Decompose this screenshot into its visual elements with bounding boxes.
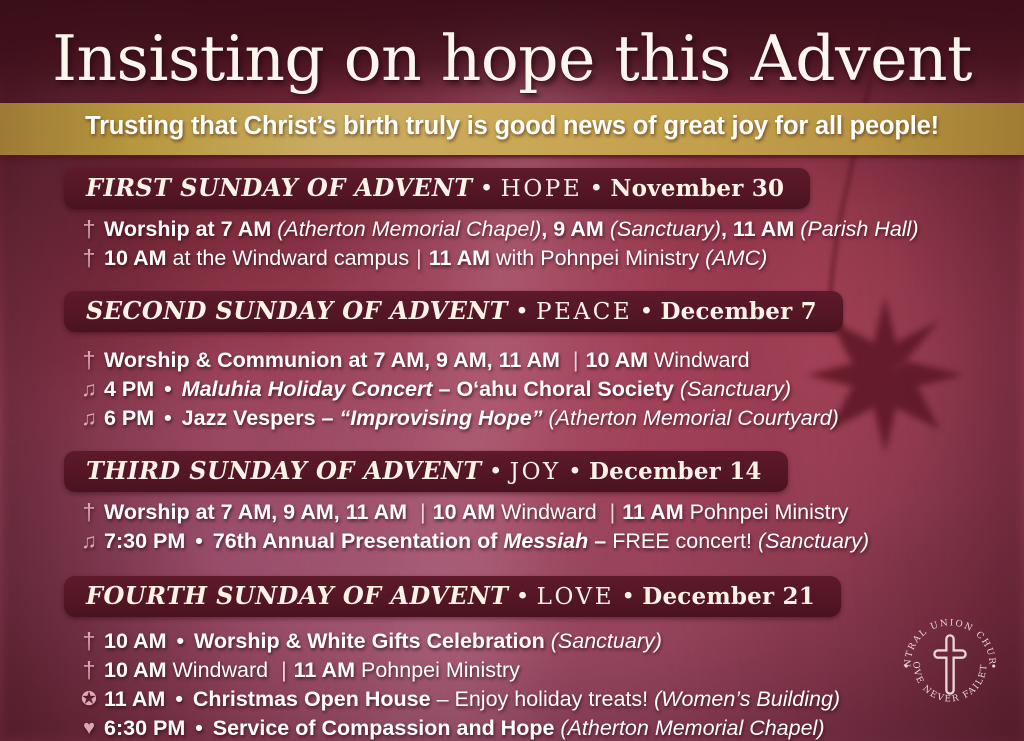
cross-icon: † (78, 215, 100, 244)
event-text-part: 11 AM (429, 246, 496, 270)
header-separator: • (561, 460, 589, 482)
event-text-part: Worship at 7 AM, 9 AM, 11 AM (104, 500, 413, 524)
week-name: FIRST SUNDAY OF ADVENT (86, 173, 473, 202)
event-text-part: with Pohnpei Ministry (496, 246, 705, 270)
week-event-lines: †10 AM • Worship & White Gifts Celebrati… (0, 627, 1024, 741)
event-text-part: 6 PM (104, 406, 160, 430)
event-text-part: “Improvising Hope” (339, 406, 548, 430)
event-text-part: Worship at 7 AM (104, 217, 277, 241)
page-title: Insisting on hope this Advent (0, 27, 1024, 90)
event-text-part: Pohnpei Ministry (361, 658, 520, 682)
week-header-pill: SECOND SUNDAY OF ADVENT•PEACE•December 7 (64, 291, 843, 332)
event-text-part: – Enjoy holiday treats! (437, 687, 655, 711)
week-date: December 14 (589, 458, 762, 485)
event-text-part: 10 AM (585, 348, 654, 372)
advent-week-block: FIRST SUNDAY OF ADVENT•HOPE•November 30†… (0, 168, 1024, 273)
event-line: ♫4 PM • Maluhia Holiday Concert – Oʻahu … (104, 375, 1024, 404)
event-line: †Worship & Communion at 7 AM, 9 AM, 11 A… (104, 346, 1024, 375)
advent-schedule-poster: Insisting on hope this Advent Trusting t… (0, 0, 1024, 741)
music-note-icon: ♫ (78, 527, 100, 556)
event-text-part: , (541, 217, 553, 241)
event-text-part: Jazz Vespers – (176, 406, 340, 430)
event-text-part: 9 AM (553, 217, 610, 241)
event-text-part: (Sanctuary) (551, 629, 662, 653)
week-name: SECOND SUNDAY OF ADVENT (86, 296, 508, 325)
week-theme: HOPE (501, 176, 583, 202)
event-text-part: (Sanctuary) (758, 529, 869, 553)
event-text-part: (Sanctuary) (610, 217, 721, 241)
event-text-part: | (413, 500, 433, 524)
header-separator: • (482, 460, 510, 482)
event-text-part: (Atherton Memorial Chapel) (560, 716, 824, 740)
event-text-part: (AMC) (705, 246, 767, 270)
event-text-part: (Women’s Building) (654, 687, 840, 711)
week-date: December 21 (642, 583, 815, 610)
event-text-part: – (594, 529, 612, 553)
cross-icon: † (78, 656, 100, 685)
event-text-part: Worship & Communion at 7 AM, 9 AM, 11 AM (104, 348, 566, 372)
cross-icon (934, 635, 965, 693)
music-note-icon: ♫ (78, 404, 100, 433)
event-text-part: • (171, 687, 187, 711)
event-text-part: Service of Compassion and Hope (207, 716, 561, 740)
event-text-part: (Parish Hall) (800, 217, 918, 241)
event-text-part: 10 AM (104, 246, 173, 270)
cross-icon: † (78, 627, 100, 656)
week-theme: LOVE (537, 584, 615, 610)
event-text-part: 11 AM (104, 687, 171, 711)
event-text-part: Windward (173, 658, 275, 682)
star-circle-icon: ✪ (78, 685, 100, 714)
poster-header: Insisting on hope this Advent Trusting t… (0, 0, 1024, 162)
header-separator: • (614, 585, 642, 607)
cross-icon: † (78, 498, 100, 527)
week-name: FOURTH SUNDAY OF ADVENT (86, 581, 508, 610)
event-text-part: Messiah (503, 529, 594, 553)
event-text-part: Christmas Open House (187, 687, 437, 711)
event-text-part: 6:30 PM (104, 716, 191, 740)
event-text-part: • (191, 529, 207, 553)
heart-icon: ♥ (78, 714, 100, 741)
week-header-pill: FOURTH SUNDAY OF ADVENT•LOVE•December 21 (64, 576, 841, 617)
event-text-part: | (274, 658, 294, 682)
advent-schedule-list: FIRST SUNDAY OF ADVENT•HOPE•November 30†… (0, 168, 1024, 741)
event-text-part: 10 AM (104, 629, 173, 653)
event-text-part: Worship & White Gifts Celebration (188, 629, 551, 653)
event-text-part: (Atherton Memorial Chapel) (277, 217, 541, 241)
event-text-part: • (173, 629, 189, 653)
event-text-part: 10 AM (433, 500, 502, 524)
event-line: †10 AM • Worship & White Gifts Celebrati… (104, 627, 1024, 656)
event-text-part: • (160, 406, 176, 430)
event-text-part: 11 AM (733, 217, 800, 241)
event-text-part: | (603, 500, 623, 524)
header-separator: • (508, 300, 536, 322)
week-event-lines: †Worship at 7 AM, 9 AM, 11 AM |10 AM Win… (0, 498, 1024, 556)
event-text-part: 11 AM (294, 658, 361, 682)
header-separator: • (632, 300, 660, 322)
event-line: †Worship at 7 AM, 9 AM, 11 AM |10 AM Win… (104, 498, 1024, 527)
advent-week-block: FOURTH SUNDAY OF ADVENT•LOVE•December 21… (0, 576, 1024, 741)
event-text-part: Pohnpei Ministry (690, 500, 849, 524)
event-text-part: Windward (501, 500, 603, 524)
week-header-pill: THIRD SUNDAY OF ADVENT•JOY•December 14 (64, 451, 788, 492)
event-text-part: , (721, 217, 733, 241)
event-text-part: 11 AM (622, 500, 689, 524)
cross-icon: † (78, 346, 100, 375)
event-line: ♫7:30 PM • 76th Annual Presentation of M… (104, 527, 1024, 556)
week-date: November 30 (610, 175, 784, 202)
event-line: ✪11 AM • Christmas Open House – Enjoy ho… (104, 685, 1024, 714)
event-text-part: Windward (654, 348, 750, 372)
event-text-part: 76th Annual Presentation of (207, 529, 504, 553)
event-text-part: – Oʻahu Choral Society (439, 377, 680, 401)
event-text-part: FREE concert! (612, 529, 758, 553)
week-event-lines: †Worship & Communion at 7 AM, 9 AM, 11 A… (0, 346, 1024, 433)
event-text-part: • (191, 716, 207, 740)
cross-icon: † (78, 244, 100, 273)
event-text-part: (Sanctuary) (680, 377, 791, 401)
event-text-part: Maluhia Holiday Concert (176, 377, 439, 401)
event-text-part: | (566, 348, 586, 372)
event-line: ♫6 PM • Jazz Vespers – “Improvising Hope… (104, 404, 1024, 433)
header-separator: • (508, 585, 536, 607)
logo-seal: CENTRAL UNION CHURCH LOVE NEVER FAILETH (898, 613, 1002, 717)
event-text-part: (Atherton Memorial Courtyard) (549, 406, 839, 430)
event-text-part: 7:30 PM (104, 529, 191, 553)
event-line: †10 AM at the Windward campus|11 AM with… (104, 244, 1024, 273)
music-note-icon: ♫ (78, 375, 100, 404)
event-line: ♥6:30 PM • Service of Compassion and Hop… (104, 714, 1024, 741)
week-theme: PEACE (536, 299, 632, 325)
week-header-pill: FIRST SUNDAY OF ADVENT•HOPE•November 30 (64, 168, 810, 209)
week-event-lines: †Worship at 7 AM (Atherton Memorial Chap… (0, 215, 1024, 273)
advent-week-block: SECOND SUNDAY OF ADVENT•PEACE•December 7… (0, 291, 1024, 433)
header-separator: • (582, 177, 610, 199)
event-line: †Worship at 7 AM (Atherton Memorial Chap… (104, 215, 1024, 244)
event-text-part: 4 PM (104, 377, 160, 401)
header-separator: • (473, 177, 501, 199)
event-text-part: at the Windward campus (173, 246, 410, 270)
event-text-part: • (160, 377, 176, 401)
event-line: †10 AM Windward |11 AM Pohnpei Ministry (104, 656, 1024, 685)
advent-week-block: THIRD SUNDAY OF ADVENT•JOY•December 14†W… (0, 451, 1024, 556)
event-text-part: 10 AM (104, 658, 173, 682)
page-subtitle: Trusting that Christ’s birth truly is go… (0, 112, 1024, 141)
week-name: THIRD SUNDAY OF ADVENT (86, 456, 482, 485)
church-logo: CENTRAL UNION CHURCH LOVE NEVER FAILETH (898, 613, 1002, 717)
week-date: December 7 (660, 298, 816, 325)
week-theme: JOY (510, 459, 561, 485)
event-text-part: | (409, 246, 429, 270)
